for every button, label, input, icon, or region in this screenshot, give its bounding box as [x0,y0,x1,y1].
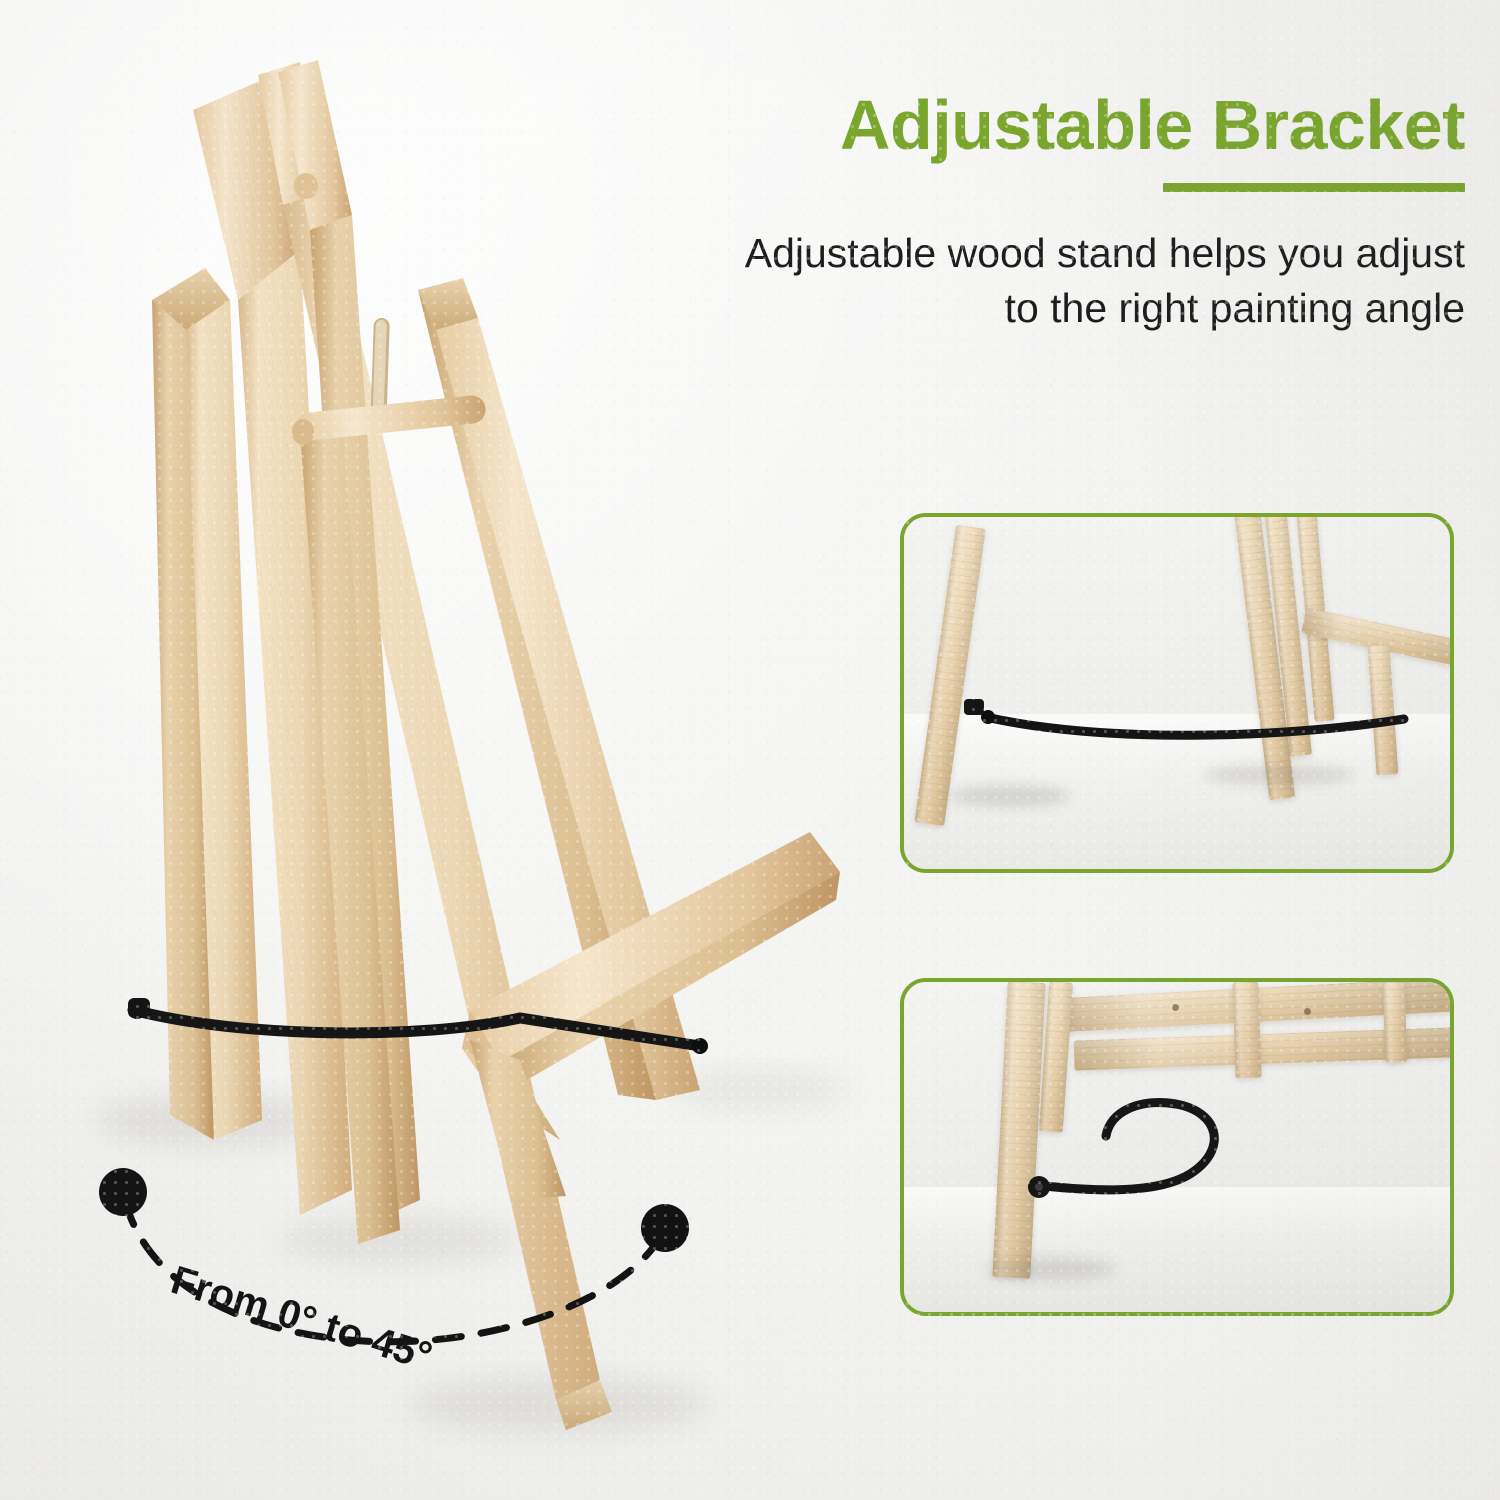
headline-block: Adjustable Bracket Adjustable wood stand… [505,90,1465,336]
adjustable-strap [980,703,1410,745]
inset-leg-shadow [950,785,1070,807]
inset-photo-leg-strap [900,513,1454,873]
product-image-canvas: Adjustable Bracket Adjustable wood stand… [0,0,1500,1500]
page-title: Adjustable Bracket [505,90,1465,161]
title-underline [1163,183,1465,192]
inset-leg-shadow [986,1258,1116,1280]
easel-right-post [1232,982,1261,1079]
screw-dot-left [1172,1004,1179,1011]
adjustable-strap-loop [1014,1078,1314,1278]
subtitle: Adjustable wood stand helps you adjust t… [705,226,1465,336]
strap-end-clip [964,699,984,715]
strap-knob [1022,1172,1056,1202]
inset-leg-shadow-right [1204,765,1354,785]
inset-photo-bracket-knob [900,978,1454,1316]
angle-annotation: From 0° to 45° [95,1140,715,1370]
easel-right-post-2 [1383,982,1408,1063]
screw-dot-right [1304,1008,1311,1015]
